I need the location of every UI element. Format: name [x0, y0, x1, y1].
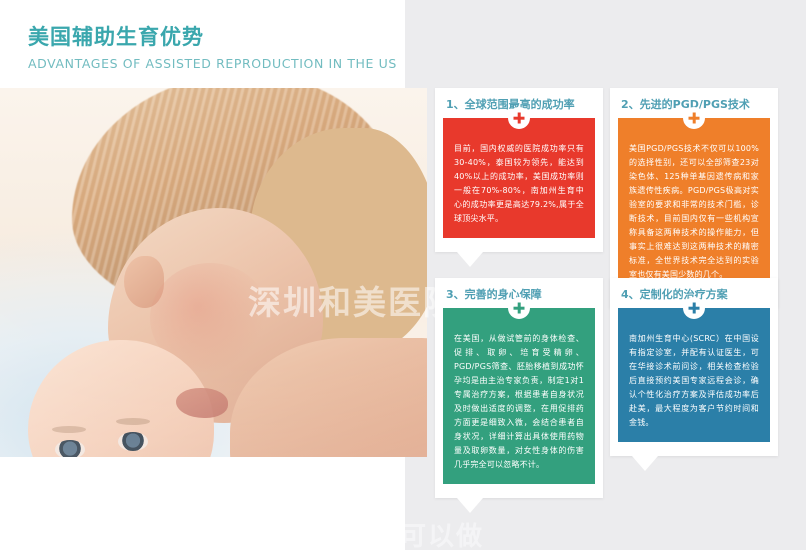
advantage-card-3[interactable]: 3、完善的身心保障 在美国，从做试管前的身体检查、促排、取卵、培育受精卵、PGD… — [435, 278, 603, 498]
photo-soft-light-overlay — [0, 88, 427, 457]
plus-icon — [683, 297, 705, 319]
advantage-card-2-body: 美国PGD/PGS技术不仅可以100%的选择性别，还可以全部筛查23对染色体、1… — [629, 142, 759, 282]
advantage-card-3-block: 在美国，从做试管前的身体检查、促排、取卵、培育受精卵、PGD/PGS筛查、胚胎移… — [443, 308, 595, 484]
plus-icon — [683, 107, 705, 129]
advantage-card-4-block: 南加州生育中心(SCRC）在中国设有指定诊室，并配有认证医生，可在华接诊术前问诊… — [618, 308, 770, 442]
page-title-english: ADVANTAGES OF ASSISTED REPRODUCTION IN T… — [28, 56, 398, 71]
advantage-card-2[interactable]: 2、先进的PGD/PGS技术 美国PGD/PGS技术不仅可以100%的选择性别，… — [610, 88, 778, 308]
page-root: 美国辅助生育优势 ADVANTAGES OF ASSISTED REPRODUC… — [0, 0, 806, 550]
plus-icon — [508, 107, 530, 129]
advantage-card-1-tail — [457, 252, 483, 267]
advantage-card-4-tail — [632, 456, 658, 471]
hero-photo — [0, 88, 427, 457]
advantage-card-1-body: 目前，国内权威的医院成功率只有30-40%，泰国较为领先，能达到40%以上的成功… — [454, 142, 584, 226]
advantage-card-3-body: 在美国，从做试管前的身体检查、促排、取卵、培育受精卵、PGD/PGS筛查、胚胎移… — [454, 332, 584, 472]
page-title: 美国辅助生育优势 ADVANTAGES OF ASSISTED REPRODUC… — [28, 24, 398, 71]
plus-icon — [508, 297, 530, 319]
advantage-card-2-block: 美国PGD/PGS技术不仅可以100%的选择性别，还可以全部筛查23对染色体、1… — [618, 118, 770, 294]
page-title-chinese: 美国辅助生育优势 — [28, 24, 398, 50]
advantage-card-4[interactable]: 4、定制化的治疗方案 南加州生育中心(SCRC）在中国设有指定诊室，并配有认证医… — [610, 278, 778, 456]
advantage-card-4-body: 南加州生育中心(SCRC）在中国设有指定诊室，并配有认证医生，可在华接诊术前问诊… — [629, 332, 759, 430]
advantage-card-1-block: 目前，国内权威的医院成功率只有30-40%，泰国较为领先，能达到40%以上的成功… — [443, 118, 595, 238]
advantage-card-3-tail — [457, 498, 483, 513]
advantage-card-1[interactable]: 1、全球范围最高的成功率 目前，国内权威的医院成功率只有30-40%，泰国较为领… — [435, 88, 603, 252]
